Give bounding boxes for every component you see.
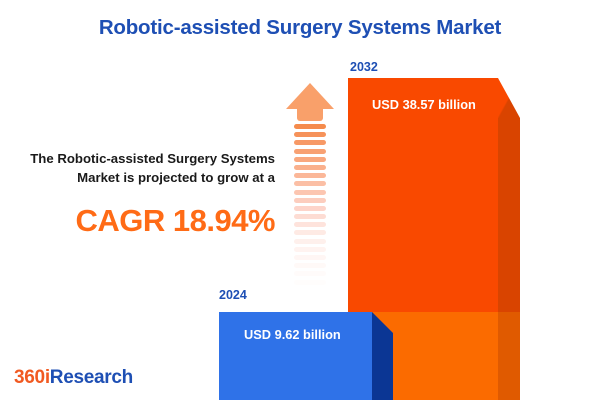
arrow-stripe-9 — [294, 190, 326, 195]
arrow-stripe-20 — [294, 280, 326, 285]
arrow-stripe-11 — [294, 206, 326, 211]
arrow-stripe-5 — [294, 157, 326, 162]
arrow-stripe-14 — [294, 230, 326, 235]
market-statement-text: The Robotic-assisted Surgery Systems Mar… — [15, 150, 275, 187]
bar-2024-side-face — [372, 333, 393, 400]
arrow-stripe-13 — [294, 222, 326, 227]
value-label-2024: USD 9.62 billion — [244, 327, 341, 342]
year-label-2024: 2024 — [219, 288, 247, 302]
cagr-highlight: CAGR 18.94% — [15, 203, 275, 239]
bar-2032-top-bevel — [498, 78, 520, 118]
upward-growth-arrow-icon — [286, 83, 334, 295]
arrow-head-shape — [286, 83, 334, 109]
arrow-stripe-17 — [294, 255, 326, 260]
arrow-stripe-19 — [294, 271, 326, 276]
arrow-stripe-18 — [294, 263, 326, 268]
value-label-2032: USD 38.57 billion — [372, 97, 476, 112]
arrow-stripe-6 — [294, 165, 326, 170]
logo-text-360: 360 — [14, 367, 45, 388]
infographic-canvas: Robotic-assisted Surgery Systems Market … — [0, 0, 600, 400]
arrow-stripe-12 — [294, 214, 326, 219]
arrow-neck-shape — [297, 109, 323, 121]
arrow-stripe-4 — [294, 149, 326, 154]
logo-text-research: Research — [50, 367, 133, 388]
bar-2024 — [219, 312, 393, 400]
arrow-stripe-2 — [294, 132, 326, 137]
brand-logo: 360iResearch — [14, 367, 133, 389]
arrow-stripe-16 — [294, 247, 326, 252]
bar-2024-top-bevel — [372, 312, 393, 333]
arrow-stripe-10 — [294, 198, 326, 203]
arrow-stripe-3 — [294, 140, 326, 145]
arrow-stripe-1 — [294, 124, 326, 129]
page-title: Robotic-assisted Surgery Systems Market — [0, 16, 600, 40]
bar-2024-front-face — [219, 312, 372, 400]
arrow-stripe-15 — [294, 239, 326, 244]
year-label-2032: 2032 — [350, 60, 378, 74]
arrow-shaft-stripes — [294, 124, 326, 295]
bar-2032-overlap-side — [498, 312, 520, 400]
arrow-stripe-7 — [294, 173, 326, 178]
arrow-stripe-8 — [294, 181, 326, 186]
